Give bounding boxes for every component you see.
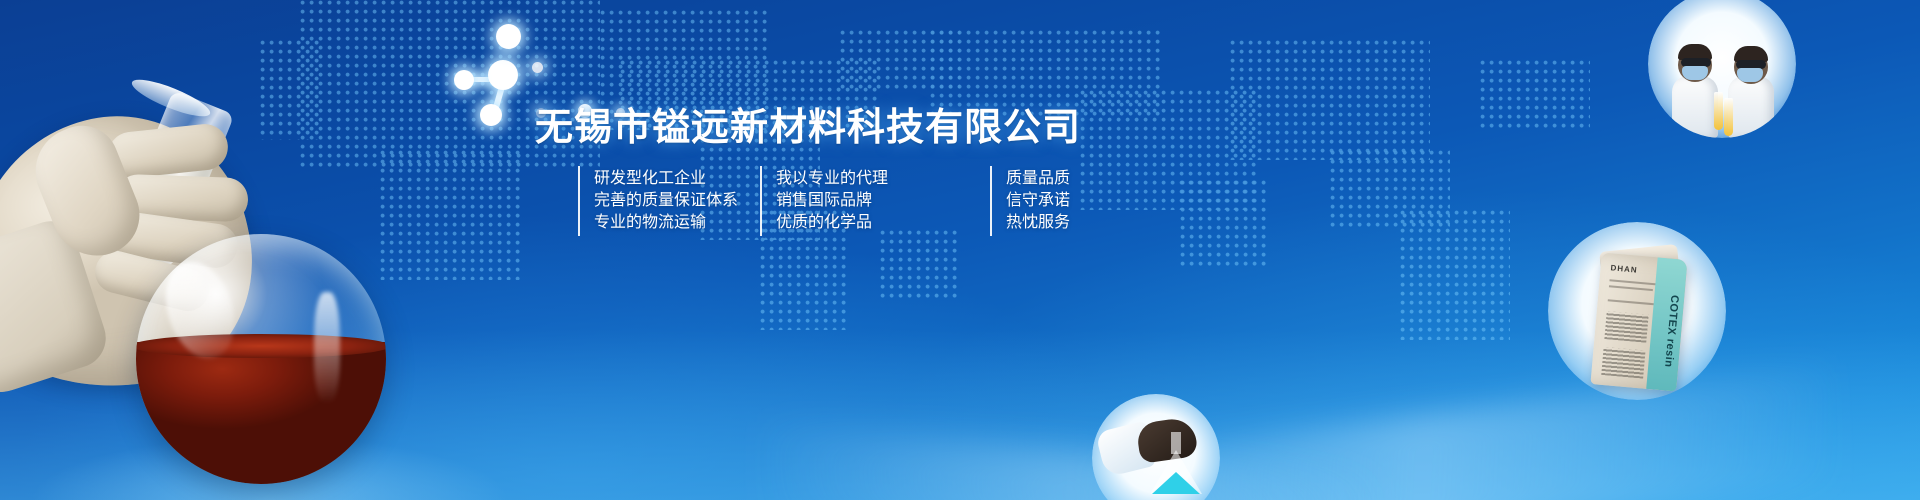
feature-column-quality-promise-service: 质量品质 信守承诺 热忱服务 [990,166,1126,236]
resin-sack: DHAN COTEX resin [1590,253,1687,392]
resin-product-bubble: DHAN COTEX resin [1548,222,1726,400]
face-mask-icon [1737,68,1763,82]
feature-line: 热忱服务 [1006,212,1126,234]
feature-columns: 研发型化工企业 完善的质量保证体系 专业的物流运输 我以专业的代理 销售国际品牌… [578,166,1126,236]
flask-liquid-blue [1152,472,1200,494]
company-hero-banner: 无锡市镒远新材料科技有限公司 研发型化工企业 完善的质量保证体系 专业的物流运输… [0,0,1920,500]
molecule-node [454,70,474,90]
flask-bulb [136,234,386,484]
company-title: 无锡市镒远新材料科技有限公司 [535,96,1081,151]
feature-column-agency-brands-chemicals: 我以专业的代理 销售国际品牌 优质的化学品 [760,166,962,236]
scientists-photo-bubble [1648,0,1796,138]
feature-line: 信守承诺 [1006,190,1126,212]
molecule-node [496,24,521,49]
sack-brand-label: DHAN [1610,263,1638,274]
feature-line: 专业的物流运输 [594,212,732,234]
feature-line: 质量品质 [1006,168,1126,190]
light-ray-center [757,423,1382,500]
feature-column-rnd-quality-logistics: 研发型化工企业 完善的质量保证体系 专业的物流运输 [578,166,732,236]
flask-liquid-surface [136,334,386,358]
lab-coat [1672,76,1718,138]
feature-line: 销售国际品牌 [776,190,962,212]
lab-coat [1728,76,1774,138]
molecule-node [488,60,518,90]
molecule-node [480,104,502,126]
face-mask-icon [1682,66,1708,80]
gloved-hand-flask-photo [0,92,410,500]
feature-line: 完善的质量保证体系 [594,190,732,212]
scientist-figure [1722,46,1784,138]
test-tube-icon [1724,98,1733,136]
feature-line: 研发型化工企业 [594,168,732,190]
molecule-node [532,62,543,73]
flask-liquid-red [136,342,386,484]
blue-flask-photo-bubble [1092,394,1220,500]
glass-highlight [314,292,340,404]
feature-line: 我以专业的代理 [776,168,962,190]
scientist-figure [1670,42,1730,138]
feature-line: 优质的化学品 [776,212,962,234]
